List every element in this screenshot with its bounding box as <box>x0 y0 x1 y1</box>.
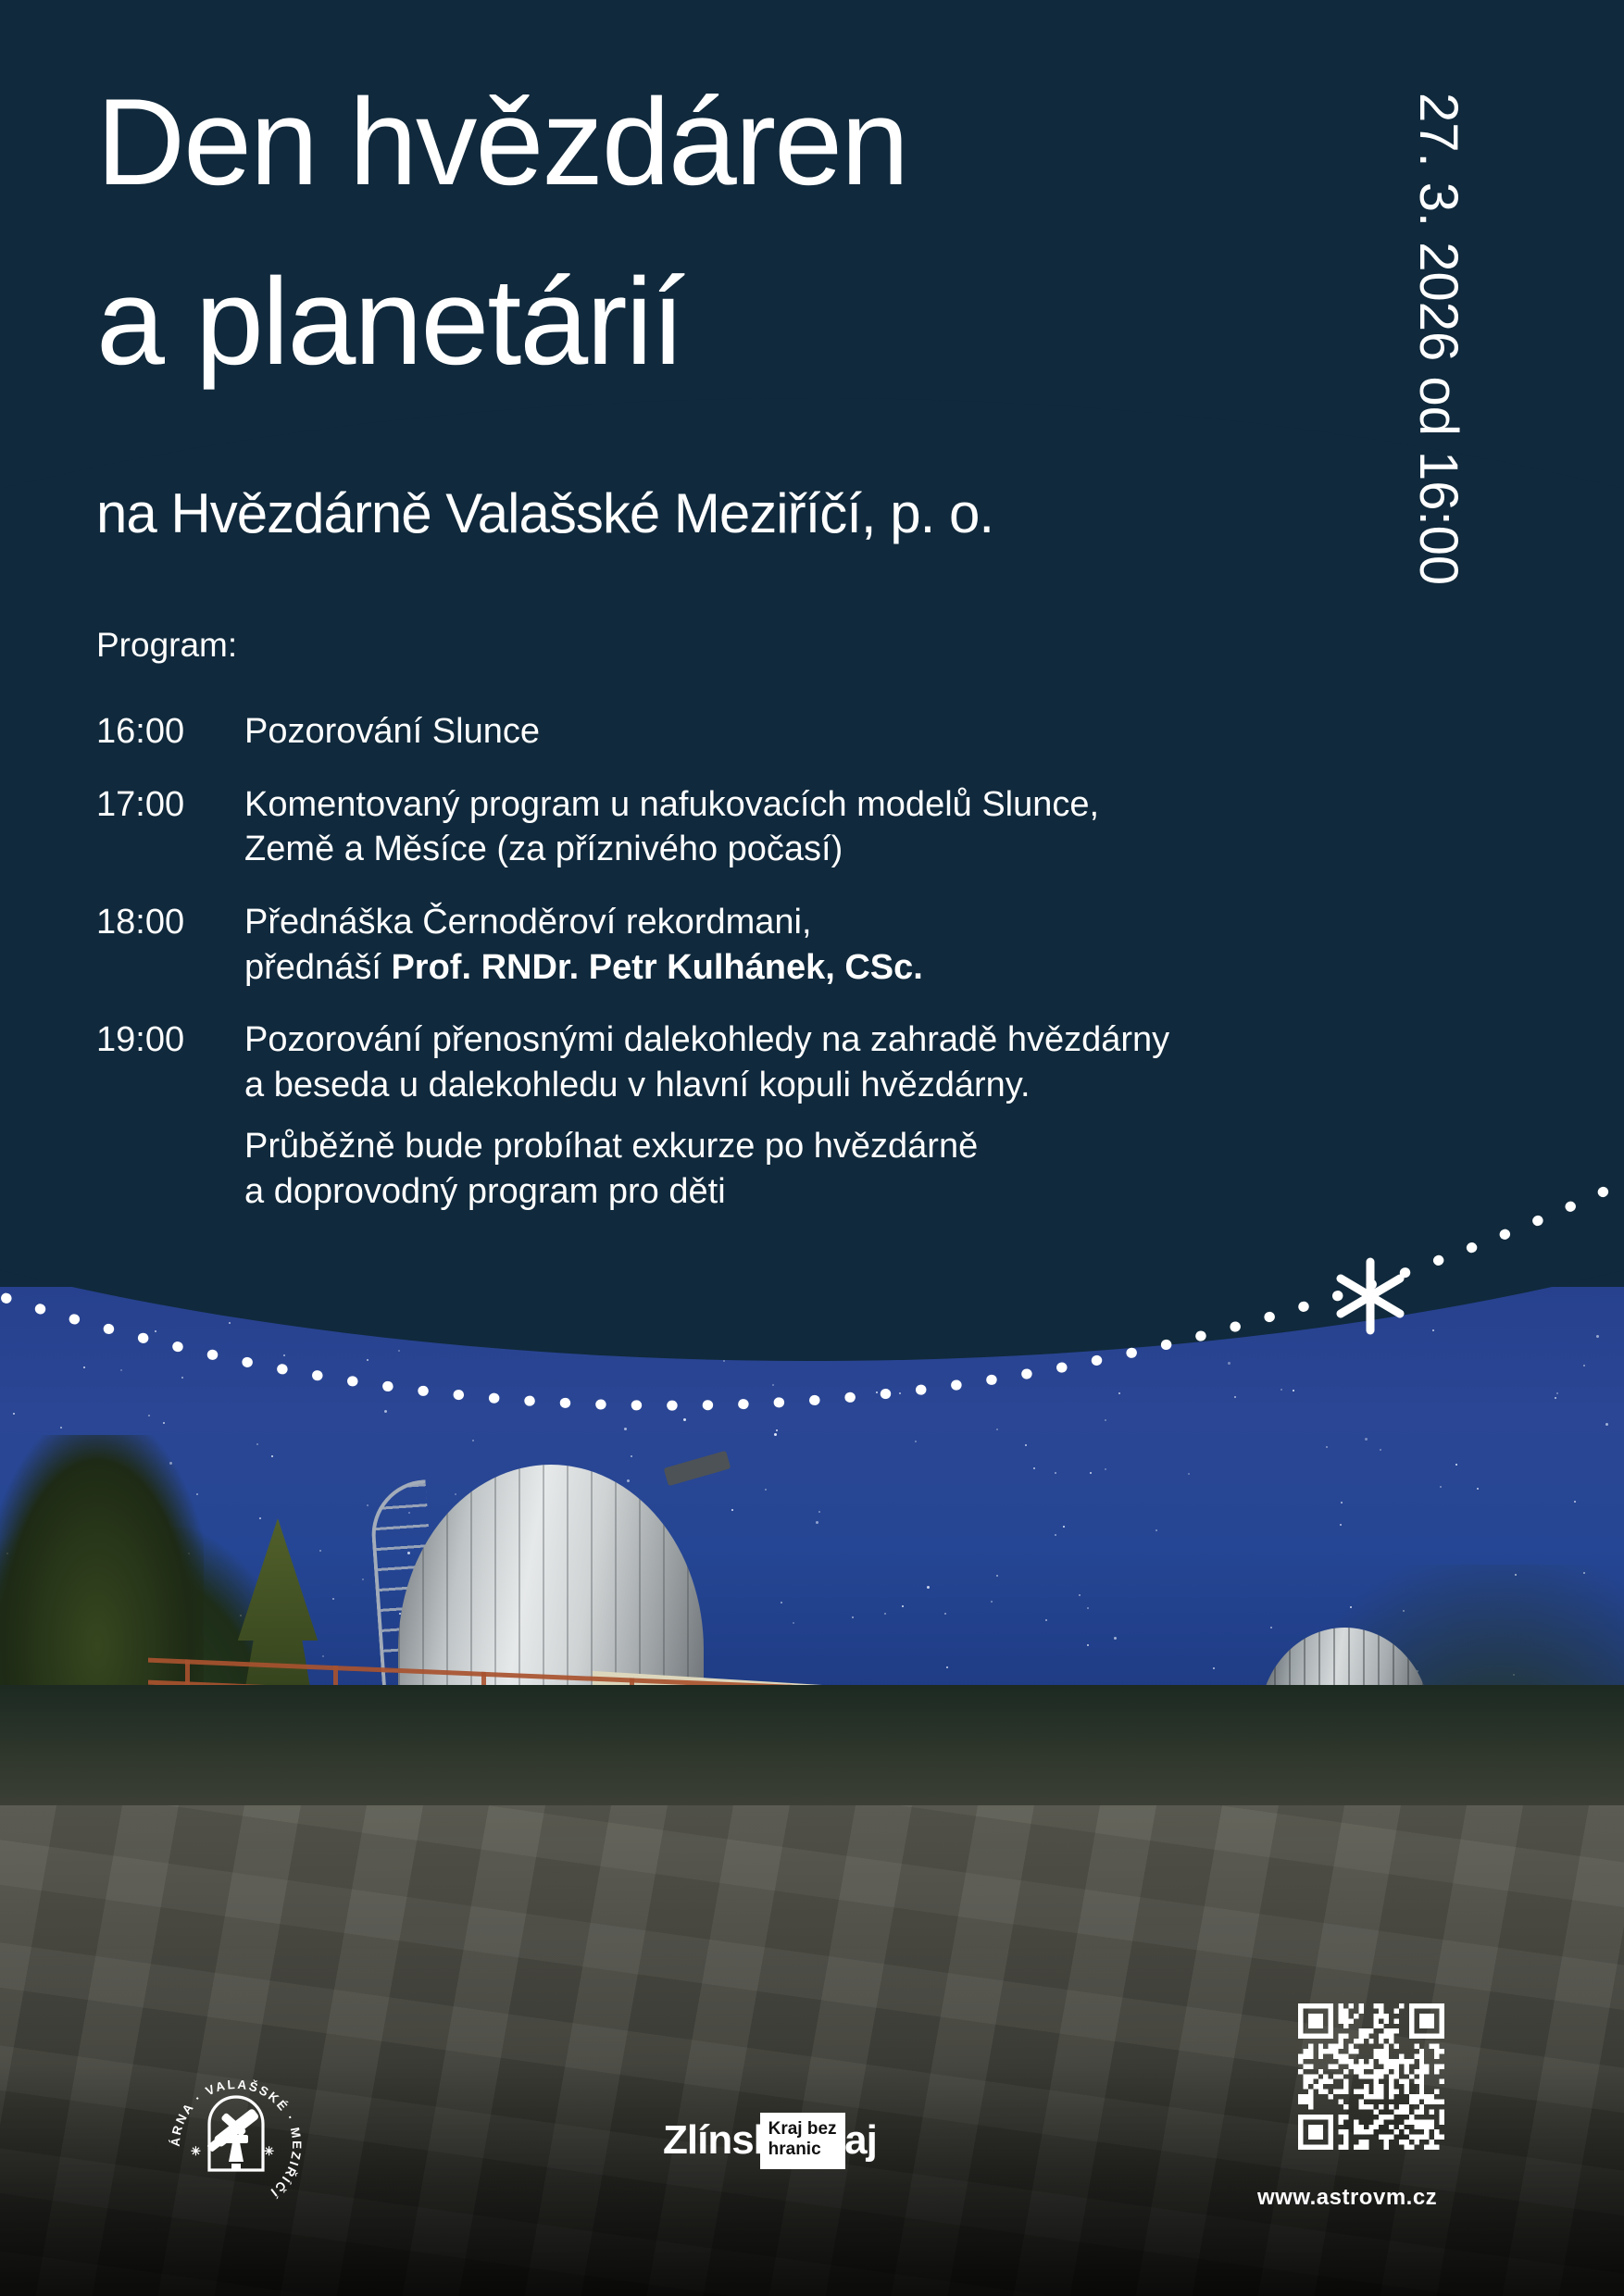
website-url[interactable]: www.astrovm.cz <box>1257 2185 1437 2211</box>
star-dot <box>627 1479 630 1482</box>
page-title-line-1: Den hvězdáren <box>96 81 907 205</box>
star-dot <box>1340 1524 1342 1526</box>
poster: Den hvězdáren a planetárií na Hvězdárně … <box>0 0 1624 2296</box>
program-description: Pozorování Slunce <box>244 709 540 755</box>
program-row: 17:00 Komentovaný program u nafukovacích… <box>96 782 1393 872</box>
star-dot <box>818 1511 820 1513</box>
star-dot <box>1440 1486 1442 1488</box>
star-dot <box>852 1616 854 1618</box>
qr-code-icon[interactable] <box>1298 2003 1444 2150</box>
star-dot <box>1270 1627 1272 1628</box>
event-date-vertical: 27. 3. 2026 od 16:00 <box>1407 93 1469 611</box>
program-list: 16:00 Pozorování Slunce 17:00 Komentovan… <box>96 709 1393 1215</box>
svg-text:✳: ✳ <box>264 2144 274 2158</box>
star-dot <box>927 1586 930 1589</box>
star-dot <box>362 1578 364 1580</box>
star-dot <box>765 1489 767 1491</box>
star-dot <box>1045 1619 1047 1621</box>
star-dot <box>332 1598 334 1600</box>
star-dot <box>1087 1644 1089 1646</box>
star-dot <box>271 1455 273 1457</box>
program-heading: Program: <box>96 626 237 665</box>
star-dot <box>1341 1502 1343 1504</box>
star-dot <box>1213 1667 1215 1669</box>
lecturer-name: Prof. RNDr. Petr Kulhánek, CSc. <box>391 948 922 987</box>
star-dot <box>1055 1472 1056 1474</box>
star-dot <box>319 1550 321 1552</box>
program-description: Přednáška Černoděroví rekordmani, předná… <box>244 900 923 990</box>
star-dot <box>367 1504 369 1506</box>
star-dot <box>793 1622 794 1624</box>
badge-line-1: Kraj bez <box>768 2119 837 2139</box>
star-dot <box>991 1601 993 1603</box>
star-dot <box>259 1517 261 1519</box>
program-row: 19:00 Pozorování přenosnými dalekohledy … <box>96 1017 1393 1107</box>
star-dot <box>1105 1468 1106 1470</box>
program-time: 17:00 <box>96 782 244 872</box>
program-row: 16:00 Pozorování Slunce <box>96 709 1393 755</box>
star-dot <box>1477 1488 1479 1490</box>
zlinsky-kraj-logo: ZlínskýKraj bezhranickraj <box>663 2113 877 2169</box>
star-dot <box>1055 1534 1056 1536</box>
program-description-line: a beseda u dalekohledu v hlavní kopuli h… <box>244 1063 1169 1108</box>
page-title-line-2: a planetárií <box>96 261 683 384</box>
star-dot <box>1033 1467 1035 1469</box>
star-dot <box>1087 1607 1089 1609</box>
star-dot <box>322 1655 324 1657</box>
observatory-logo: HVĚZDÁRNA · VALAŠSKÉ · MEZIŘÍČÍ ✳ ✳ <box>157 2066 315 2224</box>
star-dot <box>1156 1529 1157 1531</box>
program-lecturer-line: přednáší Prof. RNDr. Petr Kulhánek, CSc. <box>244 945 923 991</box>
program-description-line: Komentovaný program u nafukovacích model… <box>244 782 1099 828</box>
star-dot <box>781 1602 782 1603</box>
program-description-line: Země a Měsíce (za příznivého počasí) <box>244 827 1099 872</box>
star-dot <box>944 1613 946 1615</box>
star-dot <box>631 1455 632 1457</box>
svg-text:✳: ✳ <box>191 2144 201 2158</box>
star-dot <box>1188 1473 1190 1475</box>
star-dot <box>1063 1526 1065 1528</box>
star-dot <box>816 1521 818 1524</box>
program-description: Komentovaný program u nafukovacích model… <box>244 782 1099 872</box>
star-dot <box>902 1605 904 1607</box>
star-dot <box>1079 1594 1081 1596</box>
program-description: Pozorování přenosnými dalekohledy na zah… <box>244 1017 1169 1107</box>
program-time: 19:00 <box>96 1017 244 1107</box>
star-dot <box>1114 1637 1117 1640</box>
page-subtitle: na Hvězdárně Valašské Meziříčí, p. o. <box>96 481 993 545</box>
star-dot <box>1574 1501 1576 1503</box>
program-description-line: Přednáška Černoděroví rekordmani, <box>244 900 923 945</box>
star-dot <box>996 1575 998 1577</box>
star-dot <box>884 1613 886 1615</box>
star-dot <box>946 1666 948 1668</box>
kraj-bez-hranic-badge: Kraj bezhranic <box>760 2113 845 2169</box>
program-time: 16:00 <box>96 709 244 755</box>
program-time: 18:00 <box>96 900 244 990</box>
program-description-line: Pozorování přenosnými dalekohledy na zah… <box>244 1017 1169 1063</box>
star-icon <box>1329 1254 1412 1338</box>
star-dot <box>1090 1472 1092 1474</box>
program-row: 18:00 Přednáška Černoděroví rekordmani, … <box>96 900 1393 990</box>
star-dot <box>731 1509 733 1511</box>
lecturer-prefix: přednáší <box>244 948 391 987</box>
star-dot <box>455 1493 456 1495</box>
program-description-line: Pozorování Slunce <box>244 709 540 755</box>
badge-line-2: hranic <box>768 2140 821 2159</box>
star-dot <box>1455 1464 1457 1466</box>
